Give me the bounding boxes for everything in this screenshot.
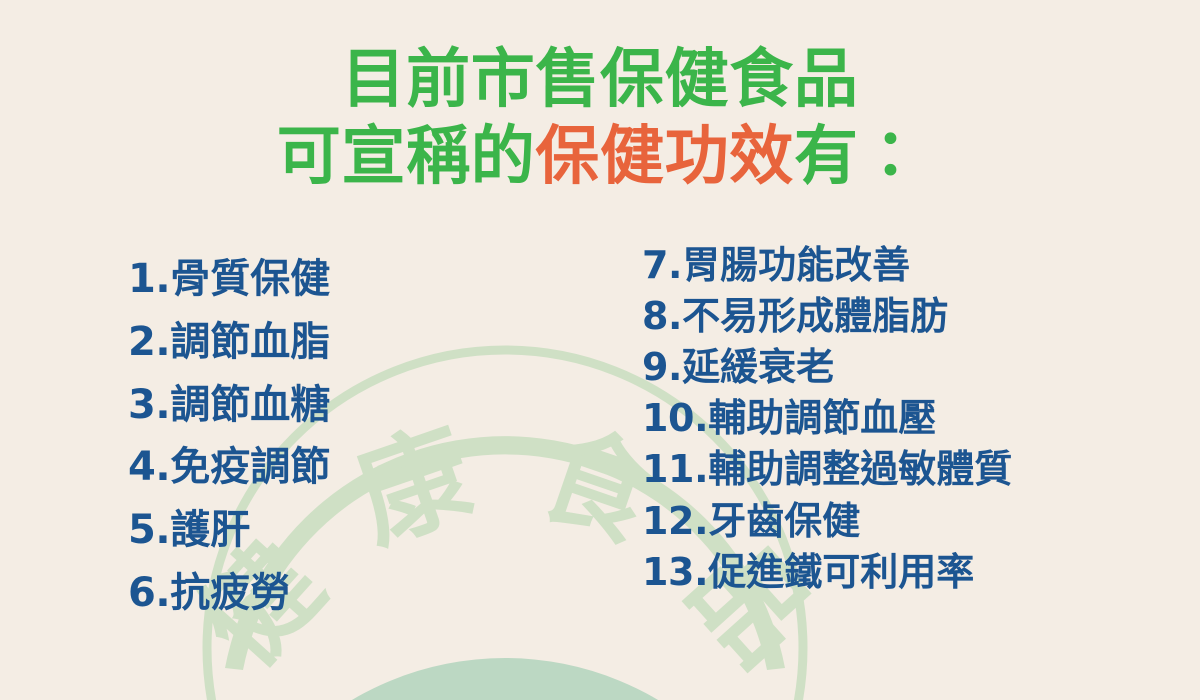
benefits-list-left-column: 1. 骨質保健 2. 調節血脂 3. 調節血糖 4. 免疫調節 5. 護肝 6.… [128, 248, 608, 625]
list-item-label: 免疫調節 [170, 436, 330, 499]
list-item-number: 9. [642, 342, 682, 393]
title-line-2-segment-green-2: 有： [794, 120, 923, 194]
title-line-2: 可宣稱的保健功效有： [0, 125, 1200, 189]
list-item: 6. 抗疲勞 [128, 562, 608, 625]
list-item-number: 6. [128, 562, 170, 625]
list-item-number: 12. [642, 496, 708, 547]
list-item-label: 骨質保健 [170, 248, 330, 311]
list-item-label: 輔助調節血壓 [708, 393, 936, 444]
list-item: 2. 調節血脂 [128, 311, 608, 374]
list-item: 11. 輔助調整過敏體質 [642, 444, 1182, 495]
list-item: 10. 輔助調節血壓 [642, 393, 1182, 444]
list-item: 1. 骨質保健 [128, 248, 608, 311]
title-line-2-segment-orange: 保健功效 [535, 120, 794, 194]
poster-root: 健 康 食 品 目前市售保健食品 可宣稱的保健功效有： 1. 骨質保健 2. 調… [0, 0, 1200, 700]
list-item: 13. 促進鐵可利用率 [642, 547, 1182, 598]
list-item-number: 13. [642, 547, 708, 598]
title-line-2-segment-green-1: 可宣稱的 [277, 120, 536, 194]
logo-green-dome [205, 658, 805, 700]
list-item-label: 不易形成體脂肪 [682, 291, 948, 342]
list-item-label: 促進鐵可利用率 [708, 547, 974, 598]
list-item-number: 8. [642, 291, 682, 342]
list-item-number: 1. [128, 248, 170, 311]
list-item-number: 4. [128, 436, 170, 499]
list-item-label: 調節血糖 [170, 374, 330, 437]
list-item: 7. 胃腸功能改善 [642, 240, 1182, 291]
title-line-1: 目前市售保健食品 [0, 48, 1200, 112]
list-item-number: 5. [128, 499, 170, 562]
list-item-number: 2. [128, 311, 170, 374]
list-item-label: 胃腸功能改善 [682, 240, 910, 291]
list-item: 12. 牙齒保健 [642, 496, 1182, 547]
list-item: 8. 不易形成體脂肪 [642, 291, 1182, 342]
list-item-number: 10. [642, 393, 708, 444]
list-item-number: 7. [642, 240, 682, 291]
list-item: 9. 延緩衰老 [642, 342, 1182, 393]
list-item-label: 調節血脂 [170, 311, 330, 374]
list-item: 5. 護肝 [128, 499, 608, 562]
list-item-label: 抗疲勞 [170, 562, 290, 625]
list-item: 4. 免疫調節 [128, 436, 608, 499]
list-item-label: 延緩衰老 [682, 342, 834, 393]
list-item-label: 牙齒保健 [708, 496, 860, 547]
list-item-label: 輔助調整過敏體質 [708, 444, 1012, 495]
list-item-label: 護肝 [170, 499, 250, 562]
list-item-number: 11. [642, 444, 708, 495]
list-item-number: 3. [128, 374, 170, 437]
list-item: 3. 調節血糖 [128, 374, 608, 437]
benefits-list-right-column: 7. 胃腸功能改善 8. 不易形成體脂肪 9. 延緩衰老 10. 輔助調節血壓 … [642, 240, 1182, 598]
